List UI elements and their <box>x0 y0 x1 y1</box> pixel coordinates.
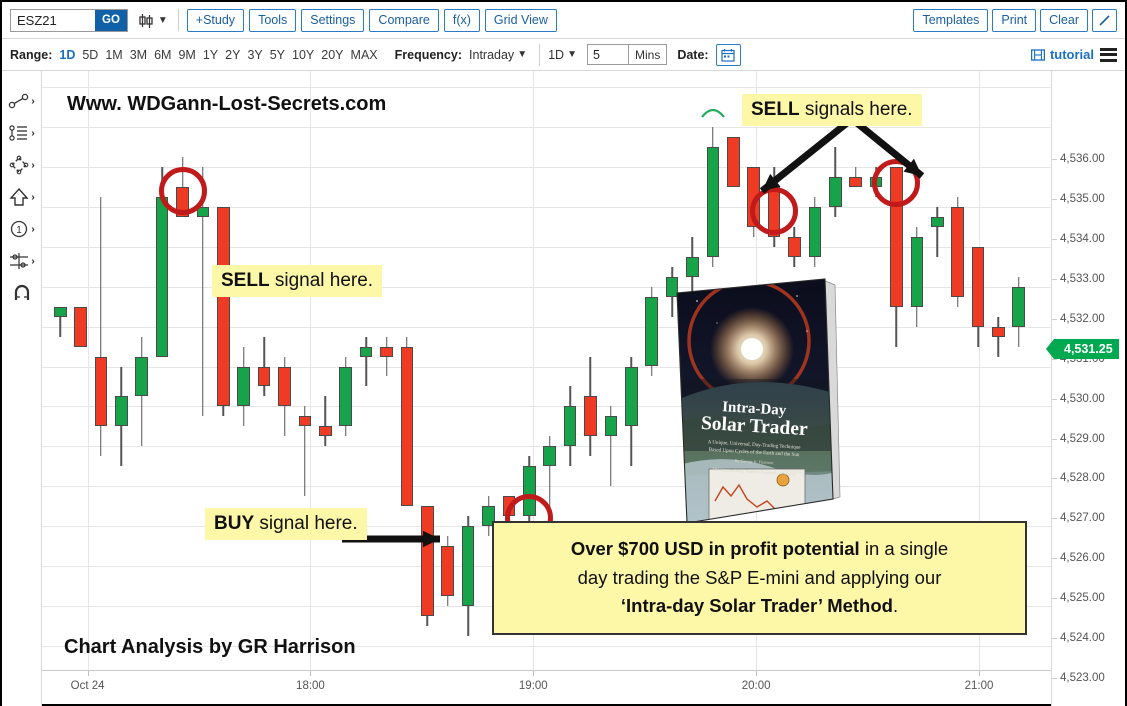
range-options-group: 1D5D1M3M6M9M1Y2Y3Y5Y10Y20YMAX <box>59 48 384 62</box>
compare-button[interactable]: Compare <box>369 9 438 32</box>
candle-body-bullish <box>462 526 475 606</box>
chart-main-area: › › › <box>2 71 1125 706</box>
candle-body-bullish <box>931 217 944 227</box>
toolbar-right-button-group: TemplatesPrintClear <box>913 9 1092 32</box>
sell-signal-circle-1 <box>159 167 207 215</box>
date-label: Date: <box>677 48 708 62</box>
candlestick <box>339 71 352 670</box>
buy-rest: signal here. <box>254 513 358 534</box>
frequency-select[interactable]: Intraday ▼ <box>469 48 527 62</box>
candle-wick <box>325 396 327 446</box>
candle-body-bearish <box>421 506 434 616</box>
symbol-input[interactable] <box>11 10 95 31</box>
span-chevron-down-icon[interactable]: ▼ <box>567 49 577 60</box>
range-option-max[interactable]: MAX <box>351 48 378 62</box>
candlestick <box>360 71 373 670</box>
price-plot-area[interactable]: Www. WDGann-Lost-Secrets.com Chart Analy… <box>42 71 1051 670</box>
range-option-3m[interactable]: 3M <box>130 48 147 62</box>
time-axis-tick: 21:00 <box>965 680 994 692</box>
candlestick <box>421 71 434 670</box>
candlestick <box>462 71 475 670</box>
last-price-tag: 4,531.25 <box>1054 339 1119 359</box>
candle-body-bullish <box>911 237 924 307</box>
candle-body-bearish <box>441 546 454 596</box>
price-axis-tick-mark <box>1052 478 1057 479</box>
candle-wick <box>386 337 388 377</box>
range-option-6m[interactable]: 6M <box>154 48 171 62</box>
candle-wick <box>365 337 367 387</box>
add-study-button[interactable]: +Study <box>187 9 244 32</box>
candle-body-bullish <box>54 307 67 317</box>
price-axis-tick-mark <box>1052 558 1057 559</box>
promo-line1-bold: Over $700 USD in profit potential <box>571 538 860 559</box>
buy-signal-label: BUY signal here. <box>205 508 367 540</box>
buy-bold: BUY <box>214 513 254 534</box>
range-option-2y[interactable]: 2Y <box>225 48 240 62</box>
promo-line3-rest: . <box>893 595 898 616</box>
sell-signal-circle-2 <box>750 187 798 235</box>
candle-body-bullish <box>135 357 148 397</box>
candle-body-bullish <box>605 416 618 436</box>
price-axis-tick-mark <box>1052 518 1057 519</box>
sell-right-rest: signals here. <box>800 99 913 120</box>
price-axis-tick-mark <box>1052 678 1057 679</box>
candle-body-bullish <box>156 197 169 357</box>
menu-hamburger-icon[interactable] <box>1100 48 1117 62</box>
promo-line-2: day trading the S&P E-mini and applying … <box>508 564 1011 593</box>
candlestick <box>156 71 169 670</box>
candlestick <box>299 71 312 670</box>
candle-body-bullish <box>339 367 352 427</box>
drawing-tools-rail: › › › <box>2 71 42 706</box>
candlestick <box>319 71 332 670</box>
price-axis-tick-mark <box>1052 159 1057 160</box>
time-axis-tick-mark <box>310 671 311 676</box>
promo-line3-bold: ‘Intra-day Solar Trader’ Method <box>621 595 893 616</box>
annotation-tool-icon[interactable]: › <box>3 117 41 149</box>
website-watermark: Www. WDGann-Lost-Secrets.com <box>67 93 386 116</box>
magnet-tool-icon[interactable] <box>3 277 41 309</box>
time-axis-tick-mark <box>533 671 534 676</box>
svg-text:1: 1 <box>17 225 23 236</box>
candle-body-bullish <box>829 177 842 207</box>
candle-body-bullish <box>564 406 577 446</box>
range-option-20y[interactable]: 20Y <box>321 48 343 62</box>
interval-unit-label: Mins <box>629 44 667 65</box>
sell-signal-right-label: SELL signals here. <box>742 94 922 126</box>
sell-right-bold: SELL <box>751 99 800 120</box>
candle-body-bullish <box>360 347 373 357</box>
price-axis-tick: 4,530.00 <box>1060 393 1105 405</box>
film-icon <box>1031 48 1045 62</box>
price-axis-tick-mark <box>1052 239 1057 240</box>
time-axis-tick-mark <box>979 671 980 676</box>
book-cover-image: Intra-Day Solar Trader A Unique, Univers… <box>657 271 847 531</box>
range-label: Range: <box>10 48 52 62</box>
candlestick <box>258 71 271 670</box>
candle-body-bearish <box>299 416 312 426</box>
span-select[interactable]: 1D ▼ <box>548 48 577 62</box>
price-axis-tick: 4,524.00 <box>1060 632 1105 644</box>
price-axis-tick: 4,532.00 <box>1060 313 1105 325</box>
price-axis-tick: 4,533.00 <box>1060 273 1105 285</box>
price-axis-tick: 4,535.00 <box>1060 193 1105 205</box>
time-axis-tick-mark <box>756 671 757 676</box>
range-option-5y[interactable]: 5Y <box>270 48 285 62</box>
price-axis-tick-mark <box>1052 638 1057 639</box>
span-value: 1D <box>548 48 564 62</box>
price-axis-tick-mark <box>1052 598 1057 599</box>
candle-body-bearish <box>217 207 230 407</box>
chart-canvas-column: Www. WDGann-Lost-Secrets.com Chart Analy… <box>42 71 1051 706</box>
range-frequency-bar: Range: 1D5D1M3M6M9M1Y2Y3Y5Y10Y20YMAX Fre… <box>2 39 1125 71</box>
time-axis[interactable]: Oct 2418:0019:0020:0021:00 <box>42 670 1051 706</box>
candle-body-bearish <box>278 367 291 407</box>
tutorial-label: tutorial <box>1050 47 1094 62</box>
promo-line1-rest: in a single <box>860 538 948 559</box>
candle-body-bearish <box>95 357 108 427</box>
chart-application-window: GO ▼ +StudyToolsSettingsComparef(x)Grid … <box>0 0 1127 706</box>
price-axis-tick-mark <box>1052 399 1057 400</box>
candle-body-bearish <box>972 247 985 327</box>
candle-body-bullish <box>115 396 128 426</box>
functions-button[interactable]: f(x) <box>444 9 480 32</box>
candlestick <box>380 71 393 670</box>
candlestick <box>74 71 87 670</box>
candle-body-bearish <box>584 396 597 436</box>
frequency-chevron-down-icon[interactable]: ▼ <box>517 49 527 60</box>
candlestick <box>441 71 454 670</box>
price-axis-tick: 4,525.00 <box>1060 592 1105 604</box>
main-toolbar: GO ▼ +StudyToolsSettingsComparef(x)Grid … <box>2 2 1125 39</box>
candle-body-bullish <box>625 367 638 427</box>
candlestick <box>197 71 210 670</box>
candle-body-bullish <box>237 367 250 407</box>
calendar-icon[interactable] <box>716 44 741 66</box>
candle-body-bearish <box>727 137 740 187</box>
print-button[interactable]: Print <box>992 9 1036 32</box>
candle-body-bearish <box>74 307 87 347</box>
candlestick <box>237 71 250 670</box>
symbol-search-group: GO <box>10 9 128 32</box>
time-axis-tick: 18:00 <box>296 680 325 692</box>
tutorial-link[interactable]: tutorial <box>1031 47 1094 62</box>
tools-button[interactable]: Tools <box>249 9 296 32</box>
range-option-5d[interactable]: 5D <box>82 48 98 62</box>
frequency-value: Intraday <box>469 48 514 62</box>
arrow-tool-icon[interactable]: › <box>3 181 41 213</box>
sell-signal-circle-3 <box>872 159 920 207</box>
promo-callout-box: Over $700 USD in profit potential in a s… <box>492 521 1027 635</box>
promo-line-3: ‘Intra-day Solar Trader’ Method. <box>508 592 1011 621</box>
candle-body-bearish <box>380 347 393 357</box>
price-axis-tick-mark <box>1052 319 1057 320</box>
interval-input[interactable] <box>587 44 629 65</box>
candle-body-bearish <box>258 367 271 387</box>
candle-body-bullish <box>707 147 720 257</box>
candlestick <box>176 71 189 670</box>
candle-body-bearish <box>951 207 964 297</box>
settings-button[interactable]: Settings <box>301 9 364 32</box>
interval-group: Mins <box>587 44 667 65</box>
range-option-1d[interactable]: 1D <box>59 48 75 62</box>
frequency-label: Frequency: <box>395 48 462 62</box>
price-axis[interactable]: 4,536.004,535.004,534.004,533.004,532.00… <box>1051 71 1125 706</box>
number-tool-icon[interactable]: 1 › <box>3 213 41 245</box>
candle-body-bullish <box>543 446 556 466</box>
time-axis-tick: Oct 24 <box>71 680 105 692</box>
candle-wick <box>936 207 938 257</box>
price-axis-tick: 4,534.00 <box>1060 233 1105 245</box>
time-axis-tick-mark <box>88 671 89 676</box>
candlestick <box>401 71 414 670</box>
sell-signal-left-label: SELL signal here. <box>212 265 382 297</box>
candle-body-bearish <box>401 347 414 507</box>
price-axis-tick: 4,526.00 <box>1060 552 1105 564</box>
price-axis-tick-mark <box>1052 279 1057 280</box>
candle-body-bearish <box>319 426 332 436</box>
toolbar-button-group: +StudyToolsSettingsComparef(x)Grid View <box>187 9 562 32</box>
candle-body-bearish <box>788 237 801 257</box>
rangebar-divider <box>539 44 540 66</box>
price-axis-tick: 4,529.00 <box>1060 433 1105 445</box>
candlestick <box>278 71 291 670</box>
grid-view-button[interactable]: Grid View <box>485 9 557 32</box>
vertical-gridline <box>88 71 89 670</box>
candlestick <box>135 71 148 670</box>
chart-type-icon[interactable]: ▼ <box>138 12 168 29</box>
candle-body-bullish <box>809 207 822 257</box>
sell-left-rest: signal here. <box>270 270 374 291</box>
candlestick <box>115 71 128 670</box>
price-axis-tick: 4,536.00 <box>1060 153 1105 165</box>
candlestick <box>54 71 67 670</box>
shapes-tool-icon[interactable]: › <box>3 149 41 181</box>
cycle-high-arc <box>701 103 725 124</box>
price-axis-tick: 4,523.00 <box>1060 672 1105 684</box>
sell-left-bold: SELL <box>221 270 270 291</box>
candle-wick <box>998 317 1000 357</box>
range-option-1m[interactable]: 1M <box>105 48 122 62</box>
range-option-10y[interactable]: 10Y <box>292 48 314 62</box>
range-option-1y[interactable]: 1Y <box>203 48 218 62</box>
candle-body-bearish <box>992 327 1005 337</box>
price-axis-tick-mark <box>1052 199 1057 200</box>
candlestick <box>95 71 108 670</box>
levels-tool-icon[interactable]: › <box>3 245 41 277</box>
toolbar-right-group: TemplatesPrintClear <box>913 9 1117 32</box>
price-axis-tick-mark <box>1052 359 1057 360</box>
candlestick <box>217 71 230 670</box>
range-option-3y[interactable]: 3Y <box>247 48 262 62</box>
toolbar-divider <box>178 9 179 31</box>
price-axis-tick: 4,528.00 <box>1060 472 1105 484</box>
candle-body-bearish <box>849 177 862 187</box>
price-axis-tick-mark <box>1052 439 1057 440</box>
go-button[interactable]: GO <box>95 10 127 31</box>
time-axis-tick: 19:00 <box>519 680 548 692</box>
chart-credit-watermark: Chart Analysis by GR Harrison <box>64 636 356 659</box>
time-axis-tick: 20:00 <box>742 680 771 692</box>
clear-button[interactable]: Clear <box>1040 9 1088 32</box>
templates-button[interactable]: Templates <box>913 9 988 32</box>
range-option-9m[interactable]: 9M <box>178 48 195 62</box>
line-tool-icon[interactable]: › <box>3 85 41 117</box>
draw-pencil-button[interactable] <box>1092 9 1117 32</box>
chart-type-chevron-down-icon[interactable]: ▼ <box>158 15 168 26</box>
promo-line-1: Over $700 USD in profit potential in a s… <box>508 535 1011 564</box>
price-axis-tick: 4,527.00 <box>1060 512 1105 524</box>
candle-body-bullish <box>1012 287 1025 327</box>
